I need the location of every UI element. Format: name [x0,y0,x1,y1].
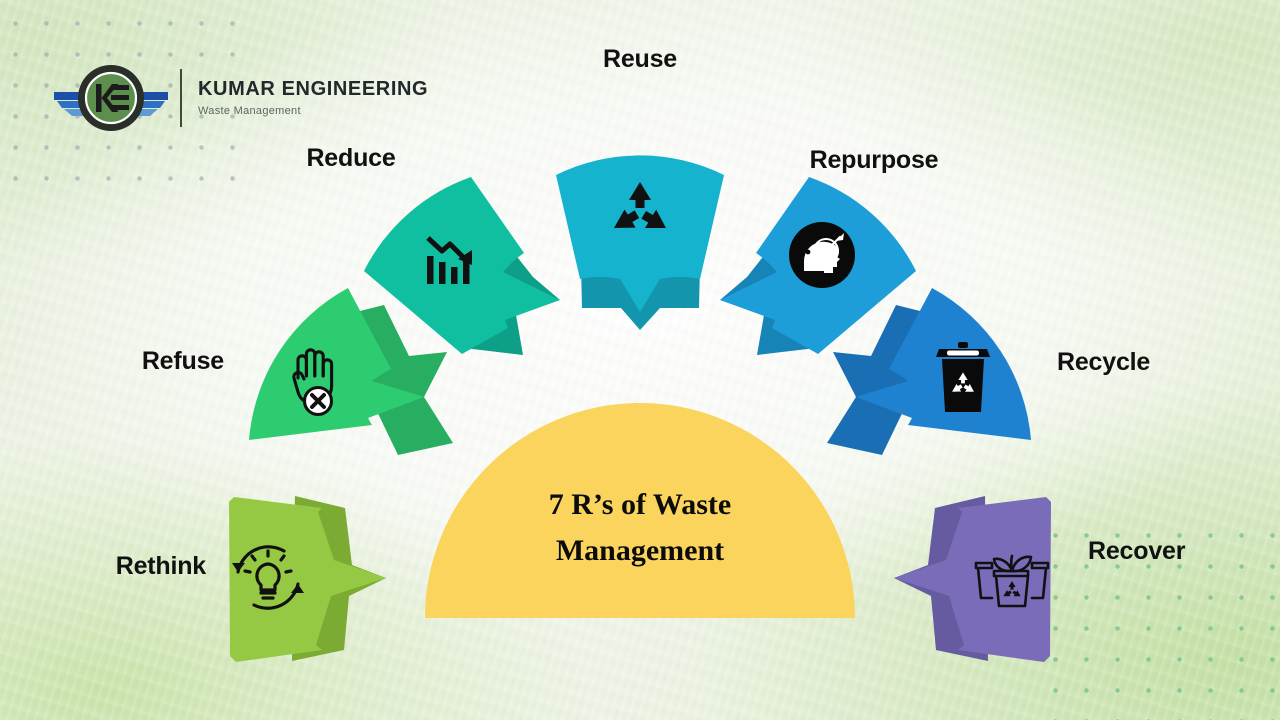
center-hub [425,403,855,618]
segment-recover[interactable] [894,496,1051,662]
segment-label-recover: Recover [1088,537,1185,566]
segment-rethink-body [229,497,386,662]
infographic-canvas: KUMAR ENGINEERING Waste Management [0,0,1280,720]
segment-label-repurpose: Repurpose [810,146,939,175]
segment-label-refuse: Refuse [142,347,224,376]
segment-label-rethink: Rethink [116,552,206,581]
segment-rethink[interactable] [229,496,386,662]
segment-label-reduce: Reduce [306,144,395,173]
segment-label-recycle: Recycle [1057,348,1150,377]
segment-label-reuse: Reuse [603,45,677,74]
segment-reuse[interactable] [556,155,724,330]
segment-repurpose-icon [789,222,855,288]
